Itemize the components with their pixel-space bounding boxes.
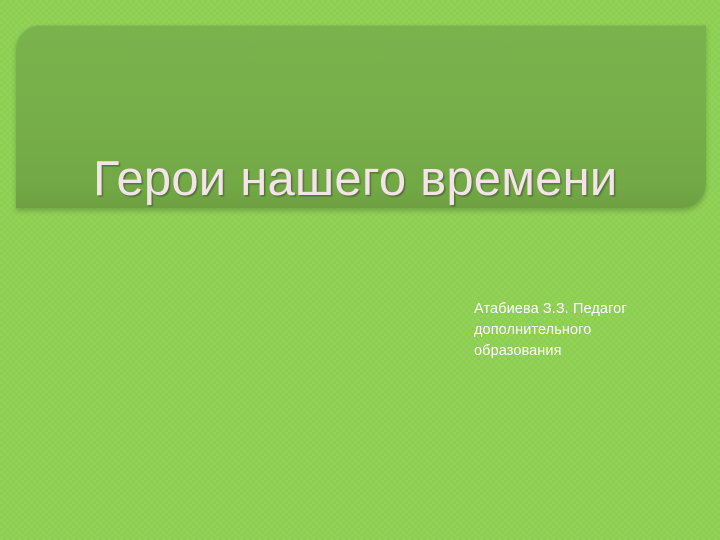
subtitle-block: Атабиева З.З. Педагог дополнительного об… (474, 299, 646, 362)
slide-title: Герои нашего времени (93, 154, 693, 206)
presentation-slide: Герои нашего времени Атабиева З.З. Педаг… (0, 0, 720, 540)
title-banner: Герои нашего времени (16, 25, 706, 208)
slide-subtitle: Атабиева З.З. Педагог дополнительного об… (474, 299, 646, 362)
